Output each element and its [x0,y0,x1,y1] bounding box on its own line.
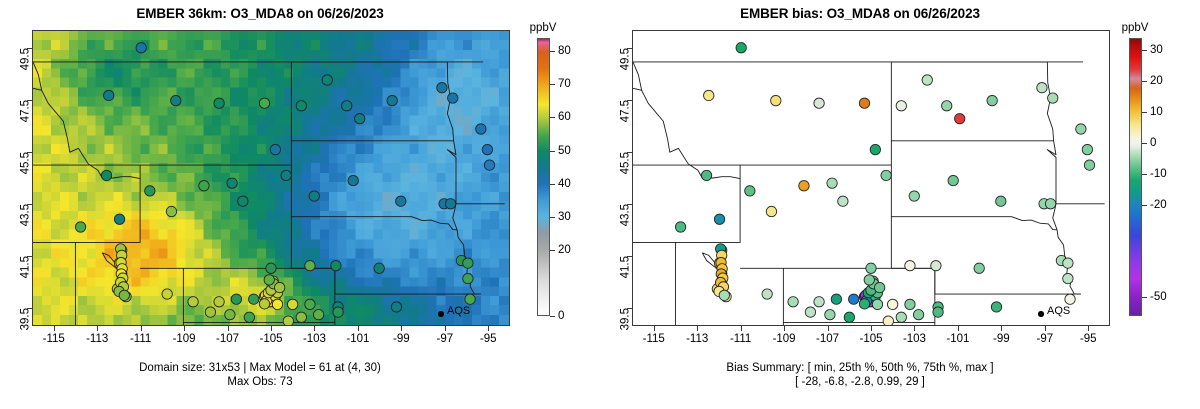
x-tick [1001,326,1002,331]
observation-marker[interactable] [445,199,455,209]
observation-marker[interactable] [270,144,280,154]
observation-marker[interactable] [259,299,269,309]
x-tick [141,326,142,331]
x-tick-label: -107 [816,333,839,345]
observation-marker[interactable] [942,101,952,111]
colorbar-left[interactable]: ppbV020304050607080 [0,0,90,409]
x-tick [445,326,446,331]
observation-marker[interactable] [1082,144,1092,154]
x-tick-label: -103 [903,333,926,345]
map-plot-right[interactable]: AQS [632,30,1110,326]
observation-marker[interactable] [374,263,384,273]
observation-marker[interactable] [948,175,958,185]
observation-marker[interactable] [827,178,837,188]
observation-marker[interactable] [188,297,198,307]
colorbar-gradient [537,38,550,316]
caption-line1-right: Bias Summary: [ min, 25th %, 50th %, 75t… [600,362,1120,375]
observation-marker[interactable] [272,299,282,309]
observation-marker[interactable] [287,299,297,309]
observation-marker[interactable] [859,299,869,309]
colorbar-right[interactable]: ppbV-50-20-100102030 [600,0,690,409]
colorbar-tick [1142,205,1147,206]
colorbar-tick [1142,174,1147,175]
observation-marker[interactable] [864,275,874,285]
map-vector-layer-left [33,31,509,325]
x-axis-left: -115-113-111-109-107-105-103-101-99-97-9… [32,326,510,358]
observation-marker[interactable] [933,307,943,317]
observation-marker[interactable] [484,160,494,170]
observation-marker[interactable] [309,191,319,201]
observation-marker[interactable] [463,258,473,268]
observation-marker[interactable] [249,294,259,304]
colorbar-tick-label: -50 [1150,291,1167,303]
colorbar-tick-label: -10 [1150,168,1167,180]
x-tick-label: -109 [173,333,196,345]
state-boundary [1047,141,1056,204]
x-tick [184,326,185,331]
colorbar-tick-label: 40 [558,178,571,190]
observation-marker[interactable] [391,302,401,312]
x-tick [228,326,229,331]
observation-marker[interactable] [214,297,224,307]
state-boundary [447,141,456,204]
colorbar-tick [550,51,555,52]
state-boundary [291,268,481,294]
x-tick-label: -111 [130,333,151,345]
observation-marker[interactable] [736,43,746,53]
state-boundary [891,217,1057,230]
observation-marker[interactable] [799,181,809,191]
observation-marker[interactable] [1045,199,1055,209]
aqs-legend-label: AQS [1047,305,1070,317]
x-tick-label: -99 [393,333,410,345]
observation-marker[interactable] [104,90,114,100]
colorbar-tick-label: 20 [558,244,571,256]
colorbar-title: ppbV [1122,22,1149,34]
observation-marker-cluster [259,275,285,310]
observation-marker[interactable] [342,101,352,111]
observation-marker[interactable] [849,294,859,304]
observation-marker[interactable] [114,214,124,224]
observation-marker[interactable] [814,297,824,307]
observation-marker[interactable] [887,299,897,309]
observation-marker[interactable] [166,206,176,216]
state-boundary [291,217,457,230]
observation-marker[interactable] [987,95,997,105]
colorbar-tick [1142,112,1147,113]
observation-marker[interactable] [283,316,293,325]
x-tick [488,326,489,331]
caption-line1-left: Domain size: 31x53 | Max Model = 61 at (… [0,362,520,375]
observation-marker[interactable] [296,101,306,111]
observation-marker[interactable] [274,282,284,292]
observation-marker[interactable] [896,101,906,111]
x-tick-label: -97 [437,333,454,345]
observation-marker[interactable] [896,312,906,322]
colorbar-tick [550,316,555,317]
figure-root: EMBER 36km: O3_MDA8 on 06/26/2023 AQS 39… [0,0,1200,409]
observation-marker[interactable] [909,191,919,201]
observation-marker[interactable] [396,196,406,206]
colorbar-tick [550,151,555,152]
colorbar-tick [550,250,555,251]
observation-marker-layer [75,43,494,313]
observation-marker[interactable] [1065,294,1075,304]
observation-marker[interactable] [238,196,248,206]
x-tick-label: -103 [303,333,326,345]
observation-marker[interactable] [814,98,824,108]
observation-marker[interactable] [331,261,341,271]
observation-marker[interactable] [704,90,714,100]
observation-marker[interactable] [387,95,397,105]
observation-marker[interactable] [162,289,172,299]
observation-marker[interactable] [766,206,776,216]
map-plot-left[interactable]: AQS [32,30,510,326]
observation-marker[interactable] [476,124,486,134]
observation-marker[interactable] [831,294,841,304]
x-tick [914,326,915,331]
observation-marker[interactable] [714,214,724,224]
x-tick-label: -101 [946,333,969,345]
colorbar-tick-label: 20 [1150,75,1163,87]
observation-marker[interactable] [883,316,893,325]
observation-marker[interactable] [955,114,965,124]
colorbar-tick [1142,297,1147,298]
x-tick-label: -95 [480,333,497,345]
observation-marker[interactable] [333,307,343,317]
x-tick-label: -105 [259,333,282,345]
x-tick [697,326,698,331]
observation-marker[interactable] [922,75,932,85]
x-tick-label: -99 [993,333,1010,345]
observation-marker[interactable] [448,93,458,103]
colorbar-tick-label: 70 [558,78,571,90]
x-tick [784,326,785,331]
observation-marker[interactable] [225,310,235,320]
colorbar-tick-label: 10 [1150,106,1163,118]
colorbar-gradient [1129,38,1142,316]
observation-marker[interactable] [996,196,1006,206]
observation-marker[interactable] [762,289,772,299]
observation-marker[interactable] [1037,83,1047,93]
x-tick-label: -95 [1080,333,1097,345]
x-tick-label: -97 [1037,333,1054,345]
observation-marker[interactable] [788,297,798,307]
observation-marker[interactable] [874,282,884,292]
colorbar-tick-label: 30 [1150,44,1163,56]
observation-marker[interactable] [913,310,923,320]
x-tick-label: -107 [216,333,239,345]
x-tick [401,326,402,331]
aqs-legend-label: AQS [447,305,470,317]
observation-marker[interactable] [701,170,711,180]
x-tick [97,326,98,331]
observation-marker[interactable] [313,310,323,320]
observation-marker[interactable] [171,95,181,105]
colorbar-tick [1142,143,1147,144]
observation-marker[interactable] [1076,124,1086,134]
aqs-legend-dot [438,311,444,317]
colorbar-tick [550,117,555,118]
colorbar-tick [1142,81,1147,82]
observation-marker[interactable] [771,95,781,105]
observation-marker[interactable] [974,263,984,273]
x-tick [1045,326,1046,331]
observation-marker[interactable] [231,294,241,304]
observation-marker[interactable] [348,175,358,185]
observation-marker[interactable] [1063,258,1073,268]
observation-marker[interactable] [872,299,882,309]
observation-marker[interactable] [825,310,835,320]
colorbar-title: ppbV [530,22,557,34]
observation-marker[interactable] [281,170,291,180]
observation-marker[interactable] [199,181,209,191]
x-tick [314,326,315,331]
x-tick [1088,326,1089,331]
observation-marker[interactable] [838,196,848,206]
observation-marker[interactable] [1084,160,1094,170]
observation-marker-cluster [859,275,885,310]
observation-marker[interactable] [465,294,475,304]
observation-marker[interactable] [805,307,815,317]
state-boundary [891,268,1081,294]
observation-marker[interactable] [227,178,237,188]
observation-marker[interactable] [719,290,729,300]
x-axis-right: -115-113-111-109-107-105-103-101-99-97-9… [632,326,1110,358]
observation-marker[interactable] [305,299,315,309]
colorbar-tick [550,217,555,218]
x-tick-label: -109 [773,333,796,345]
colorbar-tick-label: 50 [558,145,571,157]
colorbar-tick [1142,50,1147,51]
colorbar-tick-label: 80 [558,45,571,57]
observation-marker[interactable] [866,263,876,273]
observation-marker[interactable] [145,186,155,196]
caption-line2-right: [ -28, -6.8, -2.8, 0.99, 29 ] [600,376,1120,389]
observation-marker[interactable] [482,144,492,154]
observation-marker[interactable] [264,275,274,285]
observation-marker[interactable] [844,312,854,322]
colorbar-tick-label: 60 [558,111,571,123]
observation-marker[interactable] [259,98,269,108]
observation-marker-layer [675,43,1094,313]
x-tick [358,326,359,331]
observation-marker[interactable] [355,114,365,124]
caption-line2-left: Max Obs: 73 [0,376,520,389]
colorbar-tick-label: 0 [1150,137,1156,149]
panel-model-bias: EMBER bias: O3_MDA8 on 06/26/2023 AQS 39… [600,0,1200,409]
colorbar-tick [550,84,555,85]
observation-marker[interactable] [745,186,755,196]
x-tick-label: -111 [730,333,751,345]
observation-marker[interactable] [322,75,332,85]
colorbar-tick-label: 0 [558,310,564,322]
x-tick [271,326,272,331]
observation-marker[interactable] [463,273,473,283]
observation-marker[interactable] [859,98,869,108]
colorbar-tick-label: 30 [558,211,571,223]
x-tick [741,326,742,331]
x-tick [958,326,959,331]
observation-marker[interactable] [1063,273,1073,283]
x-tick-label: -101 [346,333,369,345]
observation-marker[interactable] [905,299,915,309]
observation-marker[interactable] [905,261,915,271]
observation-marker[interactable] [991,302,1001,312]
observation-marker[interactable] [931,261,941,271]
colorbar-tick-label: -20 [1150,199,1167,211]
observation-marker[interactable] [136,43,146,53]
observation-marker[interactable] [214,98,224,108]
observation-marker[interactable] [305,261,315,271]
map-vector-layer-right [633,31,1109,325]
x-tick-label: -105 [859,333,882,345]
observation-marker[interactable] [437,83,447,93]
observation-marker[interactable] [101,170,111,180]
observation-marker[interactable] [266,263,276,273]
observation-marker[interactable] [205,307,215,317]
x-tick [871,326,872,331]
panel-model-concentration: EMBER 36km: O3_MDA8 on 06/26/2023 AQS 39… [0,0,600,409]
observation-marker[interactable] [870,144,880,154]
colorbar-tick [550,184,555,185]
observation-marker[interactable] [1048,93,1058,103]
observation-marker[interactable] [881,170,891,180]
observation-marker[interactable] [244,312,254,322]
x-tick [828,326,829,331]
aqs-legend-dot [1038,311,1044,317]
observation-marker[interactable] [296,312,306,322]
observation-marker[interactable] [119,290,129,300]
